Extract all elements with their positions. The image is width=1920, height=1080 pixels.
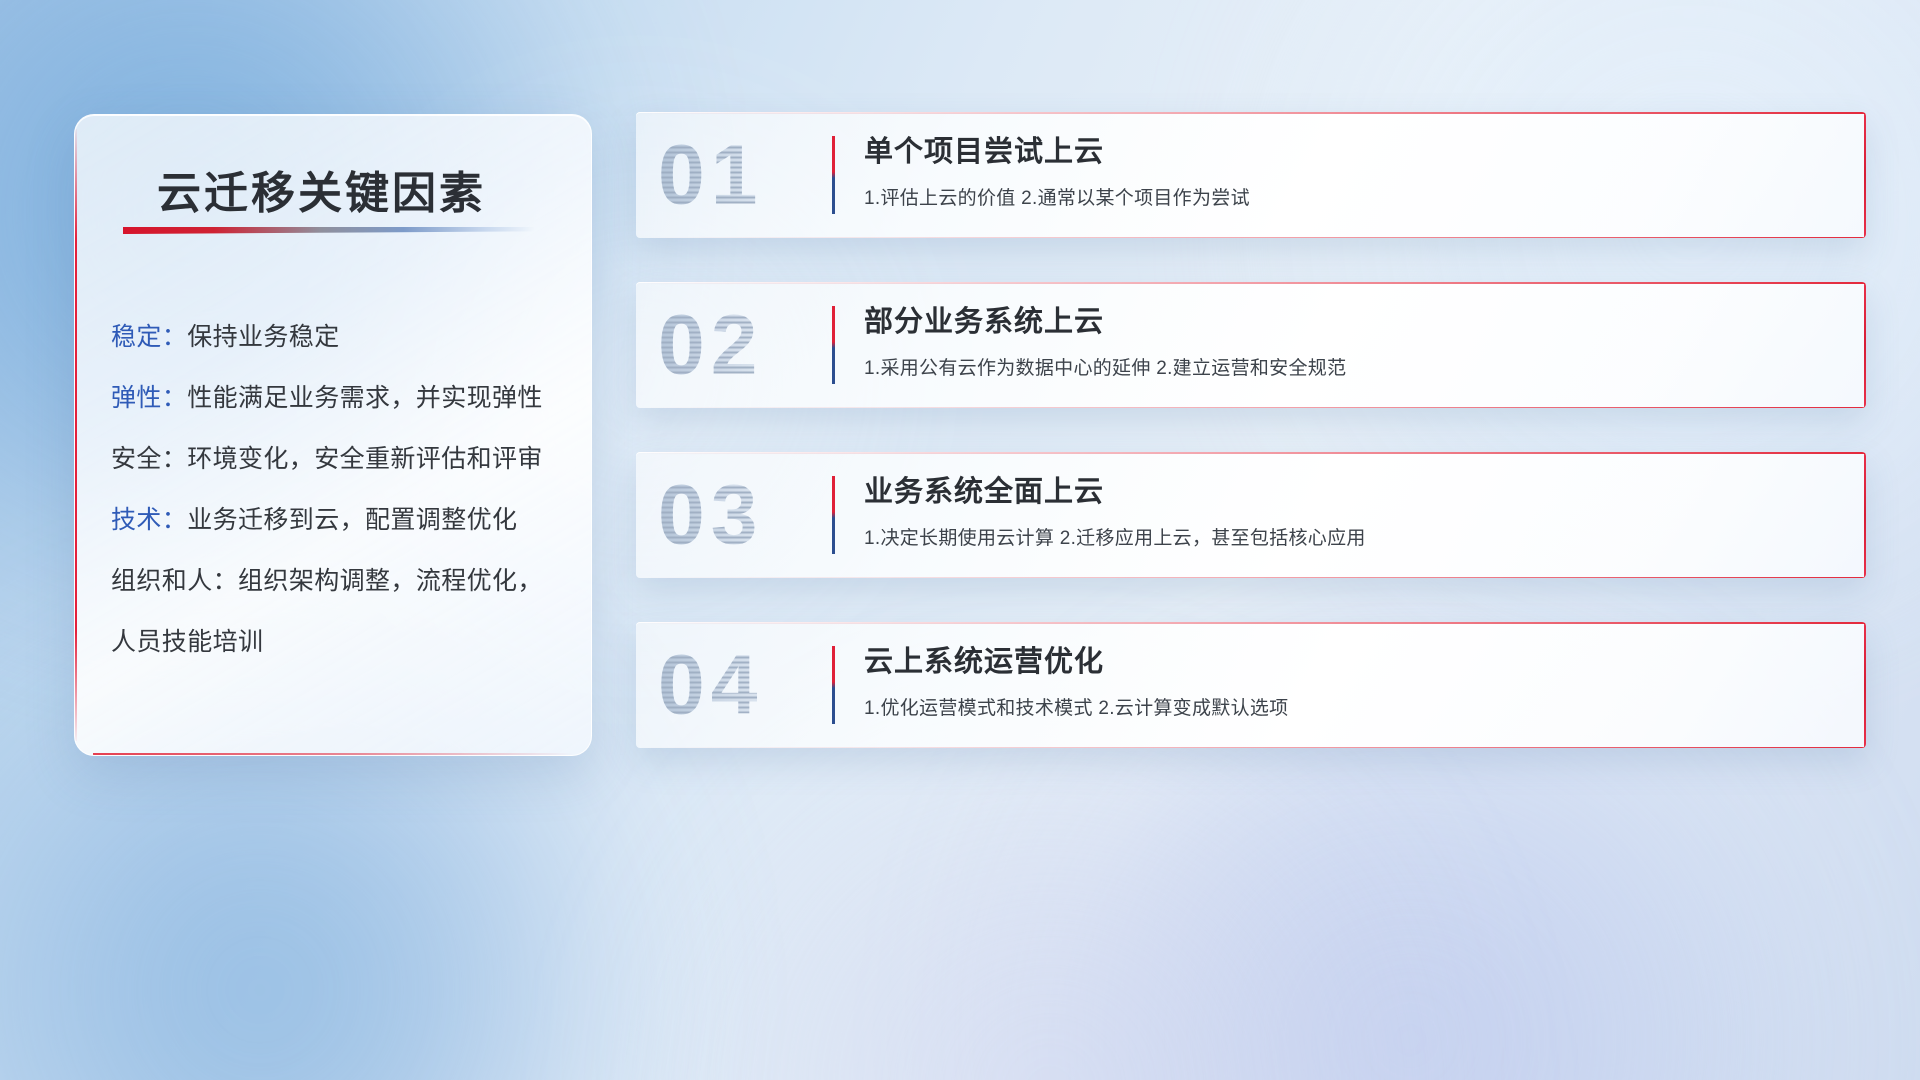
step-card-bottom-accent	[636, 237, 1866, 239]
step-card[interactable]: 03业务系统全面上云1.决定长期使用云计算 2.迁移应用上云，甚至包括核心应用	[636, 452, 1866, 578]
factor-row: 稳定：保持业务稳定	[111, 307, 567, 368]
step-body: 部分业务系统上云1.采用公有云作为数据中心的延伸 2.建立运营和安全规范	[864, 306, 1826, 380]
factor-text: 业务迁移到云，配置调整优化	[187, 506, 517, 534]
key-factors-list: 稳定：保持业务稳定弹性：性能满足业务需求，并实现弹性安全：环境变化，安全重新评估…	[111, 307, 567, 673]
factor-label: 弹性：	[111, 384, 187, 412]
step-description: 1.优化运营模式和技术模式 2.云计算变成默认选项	[864, 693, 1826, 720]
factor-text: 人员技能培训	[111, 628, 263, 656]
factor-row: 弹性：性能满足业务需求，并实现弹性	[111, 368, 567, 429]
step-body: 单个项目尝试上云1.评估上云的价值 2.通常以某个项目作为尝试	[864, 136, 1826, 210]
step-card-bottom-accent	[636, 407, 1866, 409]
factor-row: 人员技能培训	[111, 612, 567, 673]
step-description: 1.评估上云的价值 2.通常以某个项目作为尝试	[864, 183, 1826, 210]
slide-stage: 云迁移关键因素 稳定：保持业务稳定弹性：性能满足业务需求，并实现弹性安全：环境变…	[0, 0, 1920, 1080]
step-divider	[832, 136, 835, 214]
factor-label: 技术：	[111, 506, 187, 534]
title-underline-accent	[123, 227, 535, 234]
step-description: 1.采用公有云作为数据中心的延伸 2.建立运营和安全规范	[864, 353, 1826, 380]
step-description: 1.决定长期使用云计算 2.迁移应用上云，甚至包括核心应用	[864, 523, 1826, 550]
factor-label: 组织和人：	[111, 567, 238, 595]
step-number: 02	[658, 297, 763, 394]
step-card[interactable]: 02部分业务系统上云1.采用公有云作为数据中心的延伸 2.建立运营和安全规范	[636, 282, 1866, 408]
step-title: 云上系统运营优化	[864, 646, 1826, 679]
step-title: 业务系统全面上云	[864, 476, 1826, 509]
step-card[interactable]: 04云上系统运营优化1.优化运营模式和技术模式 2.云计算变成默认选项	[636, 622, 1866, 748]
factor-row: 组织和人：组织架构调整，流程优化，	[111, 551, 567, 612]
step-divider	[832, 306, 835, 384]
step-body: 业务系统全面上云1.决定长期使用云计算 2.迁移应用上云，甚至包括核心应用	[864, 476, 1826, 550]
factor-row: 安全：环境变化，安全重新评估和评审	[111, 429, 567, 490]
step-number: 03	[658, 467, 763, 564]
step-title: 单个项目尝试上云	[864, 136, 1826, 169]
factor-text: 保持业务稳定	[187, 323, 339, 351]
factor-text: 性能满足业务需求，并实现弹性	[187, 384, 543, 412]
step-number: 04	[658, 637, 763, 734]
factor-text: 环境变化，安全重新评估和评审	[187, 445, 543, 473]
step-card[interactable]: 01单个项目尝试上云1.评估上云的价值 2.通常以某个项目作为尝试	[636, 112, 1866, 238]
step-divider	[832, 646, 835, 724]
factor-text: 组织架构调整，流程优化，	[238, 567, 543, 595]
step-body: 云上系统运营优化1.优化运营模式和技术模式 2.云计算变成默认选项	[864, 646, 1826, 720]
step-card-bottom-accent	[636, 747, 1866, 749]
factor-label: 稳定：	[111, 323, 187, 351]
page-title: 云迁移关键因素	[157, 157, 486, 221]
step-number: 01	[658, 127, 763, 224]
step-divider	[832, 476, 835, 554]
migration-steps-list: 01单个项目尝试上云1.评估上云的价值 2.通常以某个项目作为尝试02部分业务系…	[636, 112, 1866, 792]
key-factors-card: 云迁移关键因素 稳定：保持业务稳定弹性：性能满足业务需求，并实现弹性安全：环境变…	[74, 114, 592, 756]
step-card-bottom-accent	[636, 577, 1866, 579]
step-title: 部分业务系统上云	[864, 306, 1826, 339]
factor-row: 技术：业务迁移到云，配置调整优化	[111, 490, 567, 551]
factor-label: 安全：	[111, 445, 187, 473]
